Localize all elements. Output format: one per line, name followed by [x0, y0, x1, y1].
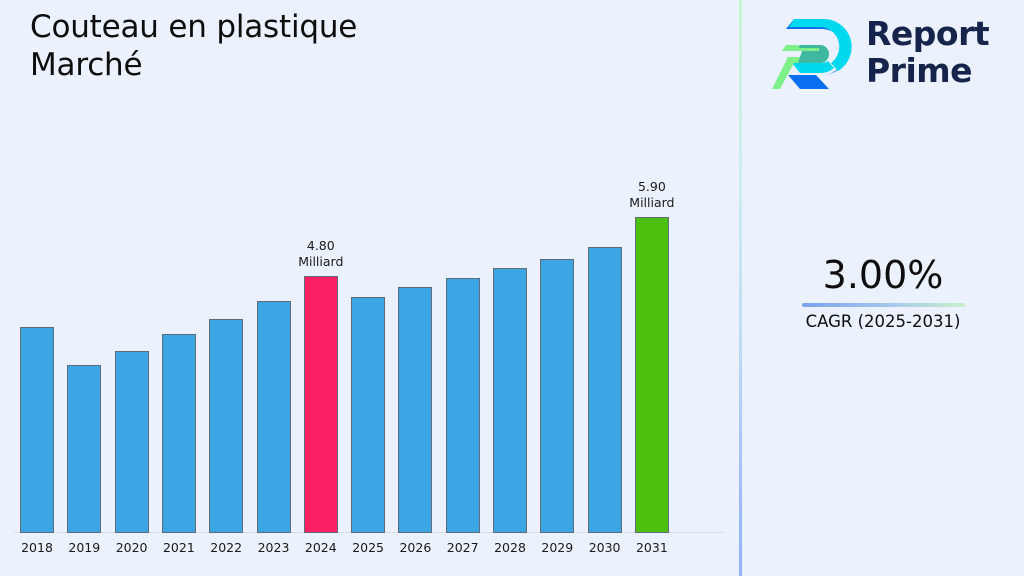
- report-prime-logo: Report Prime: [772, 12, 1012, 96]
- market-chart-infographic: Couteau en plastique Marché 201820192020…: [0, 0, 1024, 576]
- bar-2020: [115, 351, 149, 533]
- report-prime-logo-text: Report Prime: [866, 15, 989, 89]
- bar-2023: [257, 301, 291, 533]
- bar-2021: [162, 334, 196, 533]
- cagr-value: 3.00%: [742, 252, 1024, 298]
- bar-2031: [635, 217, 669, 533]
- bar-2030: [588, 247, 622, 533]
- bar-2026: [398, 287, 432, 533]
- report-prime-logo-mark-icon: [772, 15, 858, 93]
- bar-chart: 2018201920202021202220234.80 Milliard202…: [0, 0, 739, 576]
- cagr-block: 3.00% CAGR (2025-2031): [742, 252, 1024, 333]
- bar-2024: [304, 276, 338, 533]
- bar-2029: [540, 259, 574, 533]
- bar-value-label-2031: 5.90 Milliard: [607, 179, 697, 211]
- right-panel: Report Prime 3.00% CAGR (2025-2031): [742, 0, 1024, 576]
- bar-2028: [493, 268, 527, 533]
- cagr-caption: CAGR (2025-2031): [742, 311, 1024, 333]
- bar-2022: [209, 319, 243, 533]
- bar-2027: [446, 278, 480, 533]
- cagr-gradient-rule: [802, 303, 965, 307]
- bar-2018: [20, 327, 54, 533]
- bar-2019: [67, 365, 101, 533]
- bar-value-label-2024: 4.80 Milliard: [276, 238, 366, 270]
- x-tick-2031: 2031: [622, 540, 682, 555]
- bar-2025: [351, 297, 385, 533]
